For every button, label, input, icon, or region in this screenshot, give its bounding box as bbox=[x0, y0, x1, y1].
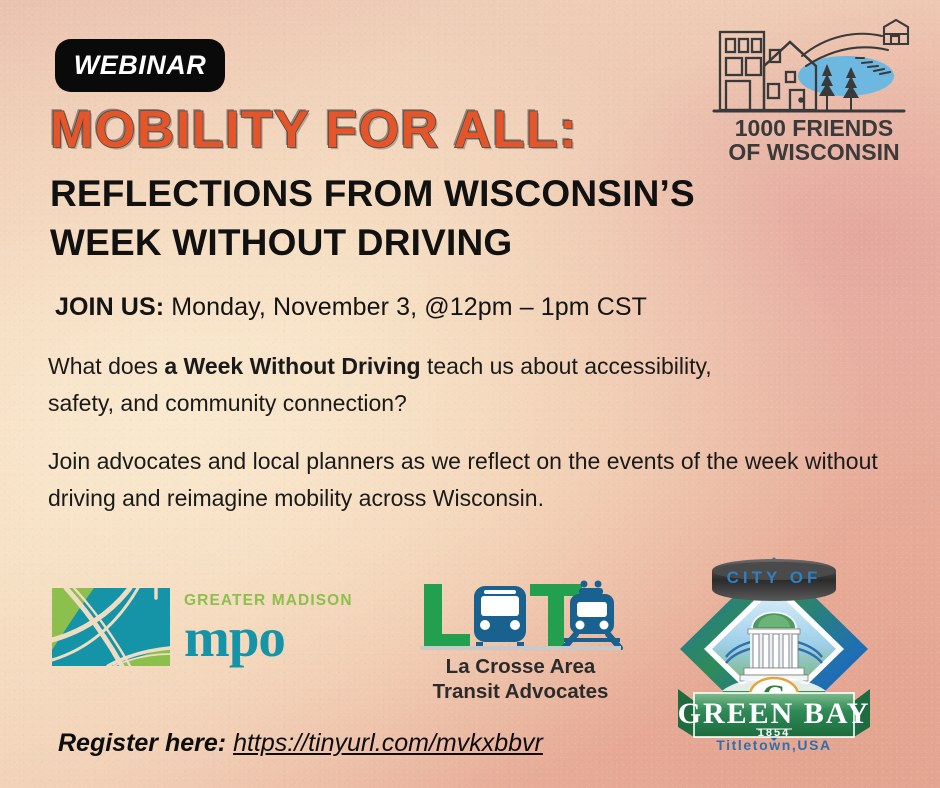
webinar-badge: WEBINAR bbox=[55, 39, 225, 92]
city-of-green-bay-seal: G CITY OF GREEN BAY 1854 Titletown,USA bbox=[668, 541, 880, 753]
lata-name-line1: La Crosse Area bbox=[413, 654, 628, 679]
body-paragraph-1: What does a Week Without Driving teach u… bbox=[48, 348, 896, 422]
register-link[interactable]: https://tinyurl.com/mvkxbbvr bbox=[233, 729, 543, 757]
register-label: Register here: bbox=[58, 729, 226, 757]
headline-line-2: REFLECTIONS FROM WISCONSIN’S bbox=[50, 170, 690, 217]
lata-bus-icon bbox=[474, 586, 526, 648]
lata-name: La Crosse Area Transit Advocates bbox=[413, 654, 628, 704]
org-name-line2: OF WISCONSIN bbox=[728, 139, 899, 164]
mpo-word: mpo bbox=[184, 610, 353, 666]
lata-logo: La Crosse Area Transit Advocates bbox=[413, 580, 628, 700]
join-us-label: JOIN US: bbox=[55, 293, 164, 321]
green-bay-seal-artwork: G CITY OF GREEN BAY 1854 Titletown,USA bbox=[668, 541, 880, 753]
register-line: Register here: https://tinyurl.com/mvkxb… bbox=[58, 729, 543, 758]
org-name-line1: 1000 FRIENDS bbox=[735, 115, 894, 141]
join-us-line: JOIN US: Monday, November 3, @12pm – 1pm… bbox=[55, 292, 647, 322]
lata-name-line2: Transit Advocates bbox=[413, 679, 628, 704]
headline-line-1: MOBILITY FOR ALL: bbox=[50, 102, 690, 158]
webinar-flyer: WEBINAR bbox=[0, 0, 940, 788]
lata-baseline bbox=[420, 646, 621, 650]
seal-tagline: Titletown,USA bbox=[716, 737, 831, 753]
par1-text-d: safety, and community connection? bbox=[48, 385, 896, 422]
headline: MOBILITY FOR ALL: REFLECTIONS FROM WISCO… bbox=[50, 102, 690, 266]
mpo-wordmark: GREATER MADISON mpo bbox=[184, 592, 353, 666]
body-paragraph-2: Join advocates and local planners as we … bbox=[48, 443, 896, 517]
tall-building bbox=[720, 32, 764, 110]
join-us-details: Monday, November 3, @12pm – 1pm CST bbox=[164, 293, 647, 321]
headline-line-3: WEEK WITHOUT DRIVING bbox=[50, 219, 690, 266]
par1-text-bold: a Week Without Driving bbox=[164, 353, 420, 379]
mpo-mark-icon bbox=[52, 588, 170, 666]
org-logo-artwork: 1000 FRIENDS OF WISCONSIN bbox=[706, 14, 922, 164]
webinar-badge-label: WEBINAR bbox=[74, 50, 207, 81]
seal-top-banner: CITY OF bbox=[712, 559, 836, 601]
lata-mark-icon bbox=[418, 580, 623, 650]
par1-text-c: teach us about accessibility, bbox=[421, 353, 712, 379]
1000-friends-of-wisconsin-logo: 1000 FRIENDS OF WISCONSIN bbox=[706, 14, 922, 164]
lata-letter-l bbox=[424, 584, 470, 646]
seal-bottom-banner: GREEN BAY 1854 bbox=[678, 689, 871, 739]
seal-banner-text: GREEN BAY bbox=[678, 697, 871, 730]
greater-madison-mpo-logo: GREATER MADISON mpo bbox=[52, 588, 357, 668]
par1-text-a: What does bbox=[48, 353, 164, 379]
seal-top-banner-text: CITY OF bbox=[727, 568, 822, 587]
